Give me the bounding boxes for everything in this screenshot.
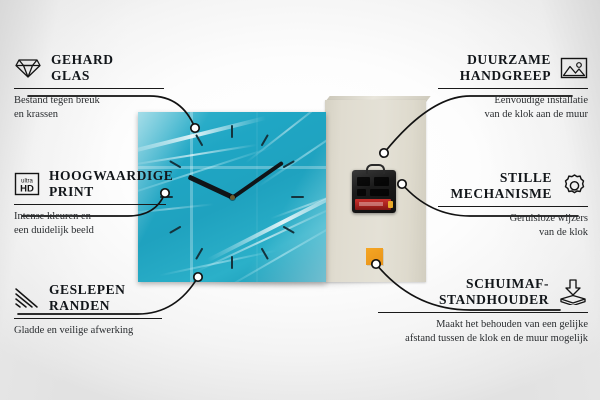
feature-schuimafstandhouder: SCHUIMAF- STANDHOUDER Maakt het behouden… (378, 276, 588, 346)
bevelled-edge-icon (14, 287, 40, 309)
feature-geslepen-randen: GESLEPEN RANDEN Gladde en veilige afwerk… (14, 282, 162, 338)
feature-divider (14, 88, 164, 89)
svg-text:HD: HD (20, 183, 34, 194)
feature-description: Gladde en veilige afwerking (14, 324, 162, 338)
connector-duurzame-handgreep (380, 149, 388, 157)
feature-title: GESLEPEN RANDEN (49, 282, 125, 314)
feature-divider (14, 204, 166, 205)
picture-frame-icon (560, 56, 588, 80)
gear-icon (561, 173, 588, 199)
connector-schuimafstandhouder (372, 260, 380, 268)
feature-hoogwaardige-print: ultra HD HOOGWAARDIGE PRINT Intense kleu… (14, 168, 166, 238)
diamond-icon (14, 57, 42, 79)
feature-divider (438, 206, 588, 207)
feature-gehard-glas: GEHARD GLAS Bestand tegen breuk en krass… (14, 52, 164, 122)
connector-geslepen-randen (194, 273, 202, 281)
connector-stille-mechanisme (398, 180, 406, 188)
feature-title: HOOGWAARDIGE PRINT (49, 168, 173, 200)
ultra-hd-icon: ultra HD (14, 172, 40, 196)
feature-duurzame-handgreep: DUURZAME HANDGREEP Eenvoudige installati… (438, 52, 588, 122)
infographic-canvas: GEHARD GLAS Bestand tegen breuk en krass… (0, 0, 600, 400)
feature-description: Bestand tegen breuk en krassen (14, 94, 164, 122)
connector-gehard-glas (191, 124, 199, 132)
feature-description: Intense kleuren en een duidelijk beeld (14, 210, 166, 238)
feature-description: Eenvoudige installatie van de klok aan d… (438, 94, 588, 122)
feature-description: Maakt het behouden van een gelijke afsta… (378, 318, 588, 346)
feature-divider (378, 312, 588, 313)
feature-title: STILLE MECHANISME (438, 170, 552, 202)
press-down-pad-icon (558, 279, 588, 305)
feature-title: DUURZAME HANDGREEP (438, 52, 551, 84)
feature-stille-mechanisme: STILLE MECHANISME Geruisloze wijzers van… (438, 170, 588, 240)
feature-title: GEHARD GLAS (51, 52, 114, 84)
feature-description: Geruisloze wijzers van de klok (438, 212, 588, 240)
feature-title: SCHUIMAF- STANDHOUDER (378, 276, 549, 308)
feature-divider (14, 318, 162, 319)
feature-divider (438, 88, 588, 89)
